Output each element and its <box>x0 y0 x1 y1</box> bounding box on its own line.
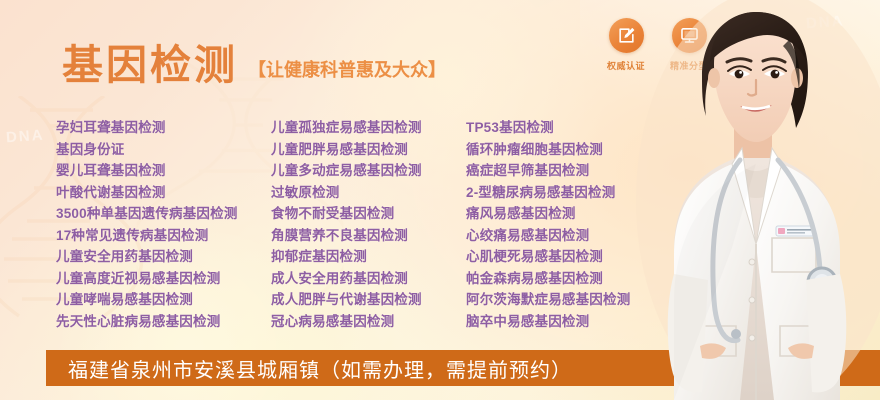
list-item[interactable]: 食物不耐受基因检测 <box>271 203 466 225</box>
report-document-icon <box>743 26 762 45</box>
list-item[interactable]: 过敏原检测 <box>271 182 466 204</box>
list-item[interactable]: TP53基因检测 <box>466 117 696 139</box>
page-title: 基因检测 <box>62 45 238 86</box>
list-item[interactable]: 癌症超早筛基因检测 <box>466 160 696 182</box>
list-item[interactable]: 痛风易感基因检测 <box>466 203 696 225</box>
list-item[interactable]: 婴儿耳聋基因检测 <box>56 160 271 182</box>
list-item[interactable]: 抑郁症基因检测 <box>271 246 466 268</box>
feature-circle <box>735 18 770 53</box>
page-subtitle: 【让健康科普惠及大众】 <box>248 56 446 86</box>
gene-testing-poster: DNA DNA 基因检测 【让健康科普惠及大众】 权威认证 <box>0 0 880 400</box>
list-item[interactable]: 17种常见遗传病基因检测 <box>56 225 271 247</box>
test-list-column-1: 孕妇耳聋基因检测 基因身份证 婴儿耳聋基因检测 叶酸代谢基因检测 3500种单基… <box>56 117 271 332</box>
list-item[interactable]: 先天性心脏病易感基因检测 <box>56 311 271 333</box>
list-item[interactable]: 儿童哮喘易感基因检测 <box>56 289 271 311</box>
feature-item-selfcheck[interactable]: 轻松自检 <box>728 18 776 72</box>
test-list-columns: 孕妇耳聋基因检测 基因身份证 婴儿耳聋基因检测 叶酸代谢基因检测 3500种单基… <box>56 117 696 332</box>
list-item[interactable]: 角膜营养不良基因检测 <box>271 225 466 247</box>
feature-label: 轻松自检 <box>733 59 771 72</box>
edit-certificate-icon <box>617 26 636 45</box>
list-item[interactable]: 儿童高度近视易感基因检测 <box>56 268 271 290</box>
address-banner: 福建省泉州市安溪县城厢镇（如需办理，需提前预约） <box>46 350 880 386</box>
test-list-column-3: TP53基因检测 循环肿瘤细胞基因检测 癌症超早筛基因检测 2-型糖尿病易感基因… <box>466 117 696 332</box>
list-item[interactable]: 成人安全用药基因检测 <box>271 268 466 290</box>
list-item[interactable]: 循环肿瘤细胞基因检测 <box>466 139 696 161</box>
feature-circle <box>609 18 644 53</box>
list-item[interactable]: 儿童肥胖易感基因检测 <box>271 139 466 161</box>
monitor-icon <box>680 26 699 45</box>
test-list-column-2: 儿童孤独症易感基因检测 儿童肥胖易感基因检测 儿童多动症易感基因检测 过敏原检测… <box>271 117 466 332</box>
list-item[interactable]: 脑卒中易感基因检测 <box>466 311 696 333</box>
list-item[interactable]: 心肌梗死易感基因检测 <box>466 246 696 268</box>
feature-item-typing[interactable]: 精准分型 <box>665 18 713 72</box>
list-item[interactable]: 儿童多动症易感基因检测 <box>271 160 466 182</box>
feature-badges: 权威认证 精准分型 轻松自检 <box>602 18 776 72</box>
list-item[interactable]: 基因身份证 <box>56 139 271 161</box>
list-item[interactable]: 叶酸代谢基因检测 <box>56 182 271 204</box>
feature-label: 权威认证 <box>607 59 645 72</box>
watermark-text-left: DNA <box>5 127 45 147</box>
list-item[interactable]: 帕金森病易感基因检测 <box>466 268 696 290</box>
feature-item-authority[interactable]: 权威认证 <box>602 18 650 72</box>
list-item[interactable]: 成人肥胖与代谢基因检测 <box>271 289 466 311</box>
heading-block: 基因检测 【让健康科普惠及大众】 <box>62 45 446 86</box>
list-item[interactable]: 3500种单基因遗传病基因检测 <box>56 203 271 225</box>
list-item[interactable]: 阿尔茨海默症易感基因检测 <box>466 289 696 311</box>
list-item[interactable]: 孕妇耳聋基因检测 <box>56 117 271 139</box>
list-item[interactable]: 儿童孤独症易感基因检测 <box>271 117 466 139</box>
list-item[interactable]: 儿童安全用药基因检测 <box>56 246 271 268</box>
feature-circle <box>672 18 707 53</box>
watermark-text-right: DNA <box>805 13 845 33</box>
list-item[interactable]: 2-型糖尿病易感基因检测 <box>466 182 696 204</box>
feature-label: 精准分型 <box>670 59 708 72</box>
address-banner-text: 福建省泉州市安溪县城厢镇（如需办理，需提前预约） <box>46 354 572 383</box>
list-item[interactable]: 心绞痛易感基因检测 <box>466 225 696 247</box>
list-item[interactable]: 冠心病易感基因检测 <box>271 311 466 333</box>
